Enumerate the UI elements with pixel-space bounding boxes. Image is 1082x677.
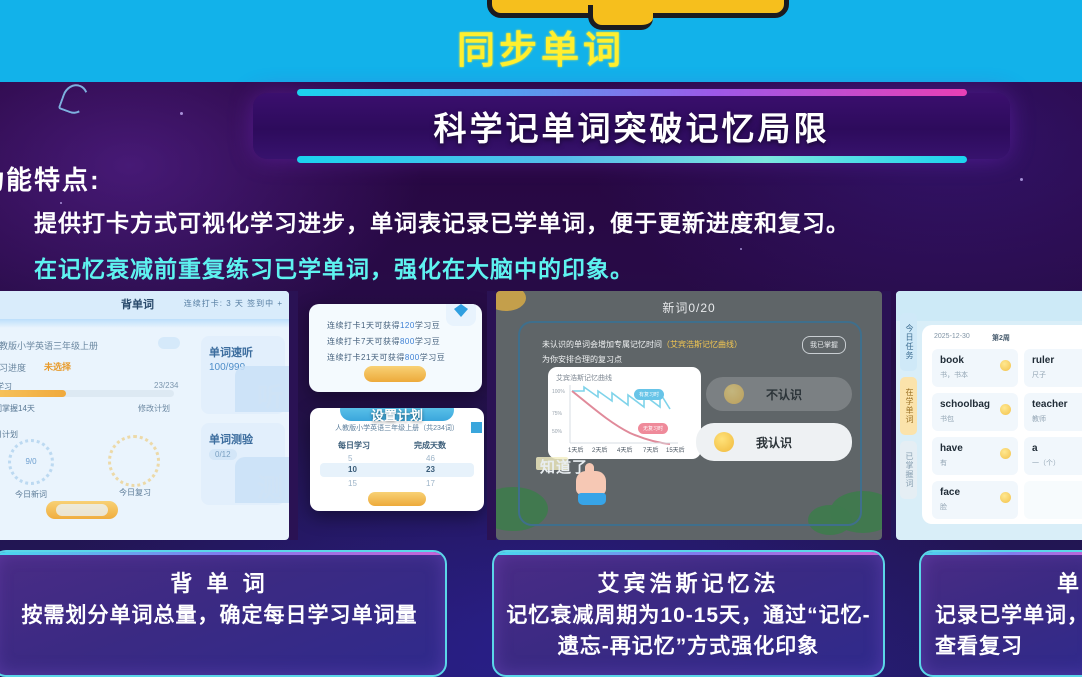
level-badge: 未选择: [44, 360, 71, 373]
word-cn: 一（个）: [1032, 458, 1060, 468]
chart-xtick: 15天后: [666, 445, 685, 454]
features-heading: 功能特点:: [0, 160, 101, 197]
slide-root: 怎样高效背单词 同步单词 科学记单词突破记忆局限 功能特点: 提供打卡方式可视化…: [0, 0, 1082, 677]
mastered-chip[interactable]: 我已掌握: [802, 336, 846, 354]
feature-card-memorize[interactable]: 背 单 词 按需划分单词总量，确定每日学习单词量: [0, 550, 447, 677]
word-cell: [1024, 481, 1082, 519]
option-dont-know-label: 不认识: [766, 386, 802, 403]
word-cn: 有: [940, 458, 947, 468]
hand-cuff: [578, 493, 606, 505]
panel-separator: [289, 291, 298, 540]
chart-xtick: 2天后: [592, 445, 607, 454]
pointing-hand-icon: [576, 463, 606, 503]
star-dot: [740, 248, 742, 250]
listening-card[interactable]: 单词速听 100/999 听: [201, 336, 285, 414]
overlay-plan-dialog: 设置计划 人教版小学英语三年级上册（共234词） 每日学习 完成天数 5 46 …: [310, 408, 484, 511]
quiz-card-glyph: 测: [257, 468, 283, 505]
checkin-line-3-text: 连续打卡21天可获得: [327, 353, 405, 362]
band-title: 同步单词: [0, 30, 1082, 72]
quiz-card-value: 0/12: [209, 449, 237, 460]
plan-note: 新词掌握14天: [0, 403, 35, 414]
word-en: schoolbag: [940, 399, 990, 410]
word-en: a: [1032, 443, 1038, 454]
tab-mastered-words[interactable]: 已掌握词: [900, 441, 917, 499]
quiz-card[interactable]: 单词测验 0/12 测: [201, 423, 285, 505]
quiz-tip-line-1: 未认识的单词会增加专属记忆时间（艾宾浩斯记忆曲线）: [542, 339, 742, 350]
word-list-date: 2025-12-30: [934, 333, 970, 340]
checkin-line-3-suffix: 学习豆: [420, 353, 446, 362]
word-cell[interactable]: book 书，书本: [932, 349, 1018, 387]
section-title-banner: 科学记单词突破记忆局限: [253, 93, 1010, 159]
start-learning-button[interactable]: [46, 501, 118, 519]
review-words-ring: [108, 435, 160, 487]
word-en: face: [940, 487, 960, 498]
tab-learning-words[interactable]: 在学单词: [900, 377, 917, 435]
checkin-line-1-text: 连续打卡1天可获得: [327, 321, 400, 330]
word-cell[interactable]: ruler 尺子: [1024, 349, 1082, 387]
review-words-caption: 今日复习: [104, 487, 166, 498]
modify-plan-link[interactable]: 修改计划: [138, 403, 170, 414]
today-plan-label: 今日计划: [0, 429, 18, 440]
star-dot: [180, 112, 183, 115]
speech-bubble: 怎样高效背单词: [487, 0, 789, 18]
word-en: have: [940, 443, 963, 454]
screenshot-strip: 背单词 连续打卡: 3 天 签到中 + 人教版小学英语三年级上册 学习进度 未选…: [0, 291, 1082, 540]
plan-cell[interactable]: 15: [348, 479, 357, 488]
word-list-week: 第2周: [992, 333, 1010, 343]
screenshot-panel-left: 背单词 连续打卡: 3 天 签到中 + 人教版小学英语三年级上册 学习进度 未选…: [0, 291, 289, 540]
checkin-line-2-suffix: 学习豆: [415, 337, 441, 346]
smiley-happy-icon: [714, 432, 734, 452]
banner-title: 科学记单词突破记忆局限: [253, 93, 1010, 159]
plan-confirm-button[interactable]: [368, 492, 426, 506]
feature-card-ebbinghaus[interactable]: 艾宾浩斯记忆法 记忆衰减周期为10-15天，通过“记忆-遗忘-再记忆”方式强化印…: [492, 550, 885, 677]
option-know[interactable]: 我认识: [696, 423, 852, 461]
word-cell[interactable]: have 有: [932, 437, 1018, 475]
feature-card-title: 单: [921, 566, 1082, 598]
top-banner-band: 怎样高效背单词 同步单词: [0, 0, 1082, 82]
plan-col-left-header: 每日学习: [338, 440, 370, 451]
progress-title: 学习进度: [0, 361, 26, 374]
word-cell[interactable]: teacher 教师: [1024, 393, 1082, 431]
listening-card-title: 单词速听: [209, 344, 253, 360]
word-status-icon[interactable]: [1000, 492, 1011, 503]
chart-xtick: 4天后: [617, 445, 632, 454]
word-cn: 书包: [940, 414, 954, 424]
quiz-progress-title: 新词0/20: [496, 299, 882, 316]
feature-cards: 背 单 词 按需划分单词总量，确定每日学习单词量 艾宾浩斯记忆法 记忆衰减周期为…: [0, 550, 1082, 677]
feature-card-desc: 按需划分单词总量，确定每日学习单词量: [6, 600, 433, 631]
gem-icon: [446, 304, 476, 326]
checkin-line-3-num: 800: [405, 353, 420, 362]
header-divider: [0, 319, 289, 328]
panel-separator: [882, 291, 891, 540]
plan-selected-row: [320, 463, 474, 477]
checkin-line-1-num: 120: [400, 321, 415, 330]
option-know-label: 我认识: [756, 434, 792, 451]
checkin-line-1: 连续打卡1天可获得120学习豆: [327, 320, 440, 331]
word-cell[interactable]: a 一（个）: [1024, 437, 1082, 475]
plan-cell[interactable]: 10: [348, 465, 357, 474]
overlay-checkin-card: 连续打卡1天可获得120学习豆 连续打卡7天可获得800学习豆 连续打卡21天可…: [309, 304, 482, 392]
hand-palm: [576, 471, 606, 495]
word-status-icon[interactable]: [1000, 448, 1011, 459]
quiz-tip-1a: 未认识的单词会增加专属记忆时间: [542, 340, 662, 349]
plan-col-right-header: 完成天数: [414, 440, 446, 451]
start-learning-button-inner: [56, 504, 108, 516]
word-list-sheet: 2025-12-30 第2周 book 书，书本 ruler 尺子 sc: [922, 325, 1082, 524]
checkin-line-1-suffix: 学习豆: [415, 321, 441, 330]
word-en: book: [940, 355, 964, 366]
word-cell[interactable]: schoolbag 书包: [932, 393, 1018, 431]
progress-track: [0, 390, 174, 397]
checkin-line-2: 连续打卡7天可获得800学习豆: [327, 336, 440, 347]
chart-tag-review: 有复习时: [634, 389, 664, 400]
quiz-tip-1b: （艾宾浩斯记忆曲线）: [662, 340, 742, 349]
word-cn: 尺子: [1032, 370, 1046, 380]
textbook-switch-chip[interactable]: [158, 337, 180, 349]
app-word-list: 今日任务 在学单词 已掌握词 2025-12-30 第2周 book 书，书本 …: [896, 291, 1082, 540]
word-cn: 教师: [1032, 414, 1046, 424]
word-status-icon[interactable]: [1000, 360, 1011, 371]
option-dont-know[interactable]: 不认识: [706, 377, 852, 411]
feature-item-1: 提供打卡方式可视化学习进步，单词表记录已学单词，便于更新进度和复习。: [34, 204, 850, 238]
word-cell[interactable]: face 脸: [932, 481, 1018, 519]
chart-xtick: 7天后: [643, 445, 658, 454]
textbook-name: 人教版小学英语三年级上册: [0, 339, 98, 352]
plan-cell[interactable]: 23: [426, 465, 435, 474]
plan-dialog-subtitle: 人教版小学英语三年级上册（共234词）: [310, 423, 484, 433]
checkin-line-2-text: 连续打卡7天可获得: [327, 337, 400, 346]
word-list-topbar: [896, 291, 1082, 321]
feature-card-wordlist[interactable]: 单 记录已学单词，查看复习: [919, 550, 1082, 677]
forgetting-curve-chart: 艾宾浩斯记忆曲线 100% 75% 50% 有复习时 无复习时 1天后: [548, 367, 701, 459]
word-en: ruler: [1032, 355, 1054, 366]
plan-cell[interactable]: 17: [426, 479, 435, 488]
word-cn: 脸: [940, 502, 947, 512]
learned-value: 23/234: [154, 381, 178, 390]
new-words-ring-value: 9/0: [8, 457, 54, 466]
checkin-status: 连续打卡: 3 天 签到中 +: [184, 298, 283, 309]
feature-card-desc: 记忆衰减周期为10-15天，通过“记忆-遗忘-再记忆”方式强化印象: [506, 600, 871, 662]
content-body: 科学记单词突破记忆局限 功能特点: 提供打卡方式可视化学习进步，单词表记录已学单…: [0, 82, 1082, 677]
swirl-decoration: [58, 80, 93, 117]
chart-xtick: 1天后: [568, 445, 583, 454]
feature-card-title: 背 单 词: [0, 566, 445, 598]
tab-today-tasks[interactable]: 今日任务: [900, 313, 917, 371]
plan-cell[interactable]: 46: [426, 454, 435, 463]
plan-dialog-title: 设置计划: [310, 408, 484, 424]
progress-fill: [0, 390, 66, 397]
feature-card-desc: 记录已学单词，查看复习: [935, 600, 1082, 662]
word-cn: 书，书本: [940, 370, 968, 380]
listening-card-glyph: 听: [257, 377, 283, 414]
feature-card-title: 艾宾浩斯记忆法: [494, 566, 883, 598]
app-new-word-quiz: 新词0/20 未认识的单词会增加专属记忆时间（艾宾浩斯记忆曲线） 为你安排合理的…: [496, 291, 882, 540]
quiz-tip-line-2: 为你安排合理的复习点: [542, 354, 622, 365]
checkin-button[interactable]: [364, 366, 426, 382]
new-words-caption: 今日新词: [0, 489, 62, 500]
panel-separator: [487, 291, 496, 540]
close-icon[interactable]: [471, 422, 482, 433]
chart-tag-noreview: 无复习时: [638, 423, 668, 434]
feature-item-2: 在记忆衰减前重复练习已学单词，强化在大脑中的印象。: [34, 250, 634, 284]
app-memorize-words: 背单词 连续打卡: 3 天 签到中 + 人教版小学英语三年级上册 学习进度 未选…: [0, 291, 289, 540]
star-dot: [1020, 178, 1023, 181]
quiz-card-title: 单词测验: [209, 431, 253, 447]
checkin-line-3: 连续打卡21天可获得800学习豆: [327, 352, 445, 363]
plan-cell[interactable]: 5: [348, 454, 352, 463]
word-en: teacher: [1032, 399, 1068, 410]
checkin-line-2-num: 800: [400, 337, 415, 346]
smiley-neutral-icon: [724, 384, 744, 404]
word-status-icon[interactable]: [1000, 404, 1011, 415]
screenshot-panel-middle: 新词0/20 未认识的单词会增加专属记忆时间（艾宾浩斯记忆曲线） 为你安排合理的…: [496, 291, 882, 540]
screenshot-panel-right: 今日任务 在学单词 已掌握词 2025-12-30 第2周 book 书，书本 …: [896, 291, 1082, 540]
